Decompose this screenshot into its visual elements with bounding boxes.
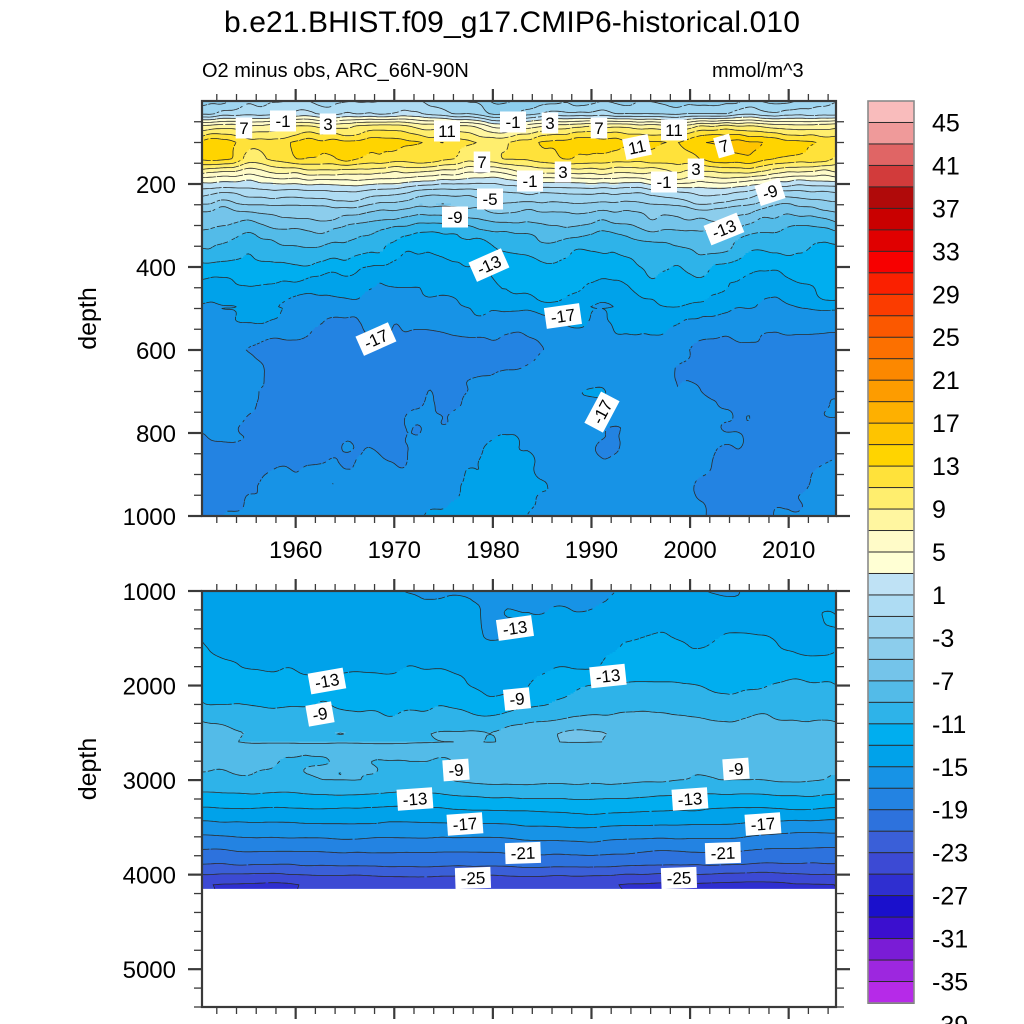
contour-label: -25 xyxy=(661,867,697,889)
colorbar-label: -3 xyxy=(932,625,954,653)
contour-label-text: -17 xyxy=(550,305,577,327)
colorbar-band xyxy=(868,767,914,789)
contour-label: -5 xyxy=(477,189,503,210)
contour-label-text: 3 xyxy=(691,160,700,179)
contour-label: -17 xyxy=(447,812,484,835)
contour-label-text: -1 xyxy=(275,112,290,131)
y-tick-label: 4000 xyxy=(123,863,176,890)
colorbar-band xyxy=(868,896,914,918)
y-axis-title-lower: depth xyxy=(74,738,102,801)
colorbar-label: 25 xyxy=(932,324,960,352)
colorbar-band xyxy=(868,595,914,617)
contour-line xyxy=(722,252,724,253)
colorbar-band xyxy=(868,402,914,424)
contour-label-text: -21 xyxy=(710,844,735,864)
colorbar-label: -7 xyxy=(932,668,954,696)
x-tick-label: 1970 xyxy=(368,537,421,564)
contour-label: 3 xyxy=(555,162,572,183)
y-tick-label: 3000 xyxy=(123,768,176,795)
contour-label-text: -13 xyxy=(595,666,621,687)
contour-label-text: -13 xyxy=(502,617,529,639)
colorbar-band xyxy=(868,359,914,381)
x-tick-label: 1960 xyxy=(269,537,322,564)
contour-label-text: 7 xyxy=(594,119,603,138)
y-tick-label: 1000 xyxy=(123,504,176,531)
colorbar-label: 17 xyxy=(932,410,960,438)
colorbar-band xyxy=(868,165,914,187)
y-tick-label: 200 xyxy=(136,172,176,199)
contour-label: -25 xyxy=(455,867,491,889)
y-tick-label: 2000 xyxy=(123,674,176,701)
y-axis-title-upper: depth xyxy=(74,287,102,350)
colorbar-band xyxy=(868,702,914,724)
contour-label: 3 xyxy=(320,114,337,135)
contour-label: -9 xyxy=(442,207,468,228)
contour-label-text: -25 xyxy=(460,869,485,889)
contour-label: -13 xyxy=(672,787,709,810)
contour-label: 7 xyxy=(236,118,253,139)
contour-label-text: 3 xyxy=(323,115,332,134)
colorbar-band xyxy=(868,273,914,295)
contour-label-text: 3 xyxy=(545,114,554,133)
colorbar-band xyxy=(868,251,914,273)
contour-label: -9 xyxy=(503,687,531,711)
contour-label-text: -9 xyxy=(728,759,744,779)
contour-label: -1 xyxy=(500,112,526,133)
x-tick-label: 2010 xyxy=(762,537,815,564)
colorbar-band xyxy=(868,380,914,402)
contour-label-text: 11 xyxy=(438,122,456,141)
colorbar xyxy=(868,101,914,1003)
contour-label: -13 xyxy=(397,787,434,810)
colorbar-label: 45 xyxy=(932,109,960,137)
x-tick-label: 1980 xyxy=(466,537,519,564)
colorbar-band xyxy=(868,681,914,703)
y-tick-label: 400 xyxy=(136,255,176,282)
colorbar-band xyxy=(868,122,914,144)
x-tick-label: 2000 xyxy=(663,537,716,564)
colorbar-band xyxy=(868,638,914,660)
colorbar-label: 41 xyxy=(932,152,960,180)
colorbar-label: 5 xyxy=(932,539,946,567)
colorbar-band xyxy=(868,509,914,531)
contour-label: -1 xyxy=(270,111,296,132)
colorbar-label: 33 xyxy=(932,238,960,266)
contour-line xyxy=(430,509,443,510)
y-tick-label: 600 xyxy=(136,338,176,365)
contour-label: 7 xyxy=(591,118,608,139)
colorbar-band xyxy=(868,230,914,252)
contour-label-text: 11 xyxy=(665,121,683,140)
contour-label: -9 xyxy=(305,701,334,726)
colorbar-label: 9 xyxy=(932,496,946,524)
colorbar-label: 29 xyxy=(932,281,960,309)
contour-label: -1 xyxy=(651,172,677,193)
contour-label: 11 xyxy=(434,121,460,142)
colorbar-band xyxy=(868,788,914,810)
contour-line xyxy=(605,431,606,435)
colorbar-band xyxy=(868,616,914,638)
y-tick-label: 5000 xyxy=(123,957,176,984)
colorbar-label: 21 xyxy=(932,367,960,395)
colorbar-label: -31 xyxy=(932,926,968,954)
colorbar-band xyxy=(868,488,914,510)
colorbar-band xyxy=(868,316,914,338)
colorbar-band xyxy=(868,939,914,961)
colorbar-label: -19 xyxy=(932,797,968,825)
contour-label: -1 xyxy=(517,171,543,192)
contour-label: 3 xyxy=(688,159,705,180)
contour-label-text: -17 xyxy=(452,814,478,835)
contour-label-text: -13 xyxy=(677,789,703,810)
colorbar-band xyxy=(868,724,914,746)
colorbar-band xyxy=(868,659,914,681)
contour-line xyxy=(234,110,236,111)
contour-label: -9 xyxy=(442,759,469,782)
colorbar-band xyxy=(868,445,914,467)
contour-label: -17 xyxy=(745,812,782,835)
contour-label-text: -13 xyxy=(402,789,428,810)
colorbar-band xyxy=(868,337,914,359)
colorbar-band xyxy=(868,101,914,123)
contour-label: 11 xyxy=(661,120,687,141)
contour-label: -21 xyxy=(705,842,741,864)
colorbar-label: 1 xyxy=(932,582,946,610)
contour-label: -21 xyxy=(505,842,541,864)
contour-label-text: 3 xyxy=(558,163,567,182)
colorbar-band xyxy=(868,531,914,553)
colorbar-label: -23 xyxy=(932,840,968,868)
colorbar-band xyxy=(868,853,914,875)
contour-label-text: -9 xyxy=(509,689,526,709)
contour-label-text: -17 xyxy=(750,814,776,835)
contour-label-text: -1 xyxy=(505,113,520,132)
colorbar-band xyxy=(868,573,914,595)
filled-bands xyxy=(202,101,837,517)
contour-label-text: -9 xyxy=(447,208,462,227)
colorbar-band xyxy=(868,874,914,896)
y-tick-label: 800 xyxy=(136,421,176,448)
colorbar-band xyxy=(868,187,914,209)
y-tick-label: 1000 xyxy=(123,579,176,606)
colorbar-band xyxy=(868,960,914,982)
colorbar-label: 13 xyxy=(932,453,960,481)
colorbar-label: -39 xyxy=(932,1011,968,1024)
colorbar-band xyxy=(868,745,914,767)
contour-label-text: -9 xyxy=(448,760,464,780)
contour-label: 7 xyxy=(474,152,491,173)
colorbar-band xyxy=(868,552,914,574)
contour-label-text: -1 xyxy=(656,173,671,192)
colorbar-band xyxy=(868,294,914,316)
colorbar-band xyxy=(868,423,914,445)
contour-field-clipU xyxy=(202,101,837,517)
colorbar-label: -27 xyxy=(932,883,968,911)
contour-label-text: 7 xyxy=(477,153,486,172)
contour-label-text: -5 xyxy=(482,190,497,209)
colorbar-band xyxy=(868,917,914,939)
colorbar-label: -11 xyxy=(932,711,966,739)
colorbar-label: -15 xyxy=(932,754,968,782)
colorbar-band xyxy=(868,208,914,230)
contour-label: 3 xyxy=(542,113,559,134)
colorbar-band xyxy=(868,466,914,488)
contour-label-text: 7 xyxy=(239,119,248,138)
colorbar-band xyxy=(868,982,914,1004)
contour-label-text: -25 xyxy=(666,869,691,889)
colorbar-label: 37 xyxy=(932,195,960,223)
contour-label: -13 xyxy=(589,664,627,689)
colorbar-band xyxy=(868,831,914,853)
colorbar-label: -35 xyxy=(932,969,968,997)
x-tick-label: 1990 xyxy=(565,537,618,564)
contour-line xyxy=(413,191,415,192)
contour-label: -9 xyxy=(722,758,749,781)
colorbar-band xyxy=(868,810,914,832)
plot-page: b.e21.BHIST.f09_g17.CMIP6-historical.010… xyxy=(0,0,1024,1024)
colorbar-band xyxy=(868,144,914,166)
contour-canvas: 1960197019801990200020102004006008001000… xyxy=(0,0,1024,1024)
contour-label-text: -1 xyxy=(522,172,537,191)
contour-label-text: -21 xyxy=(510,844,535,864)
